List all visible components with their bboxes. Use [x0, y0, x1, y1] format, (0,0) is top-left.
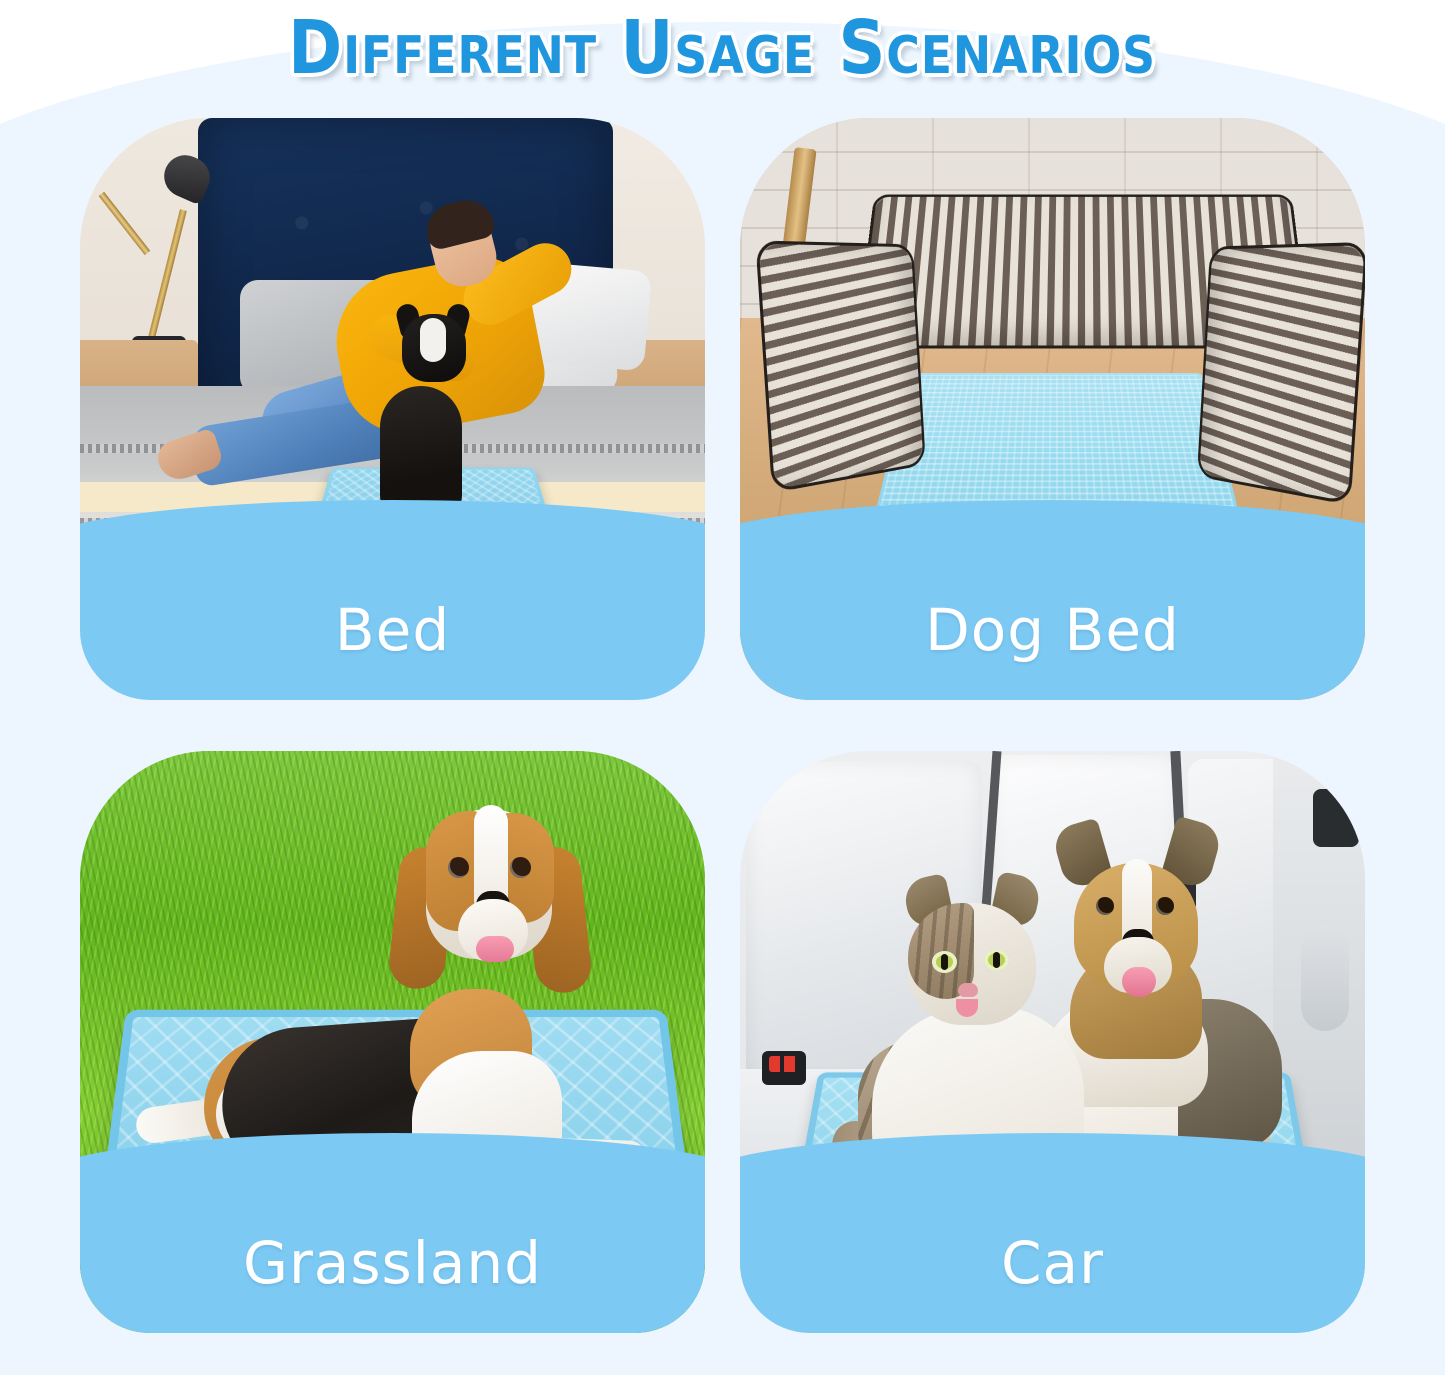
page-title-container: Different Usage Scenarios: [0, 0, 1445, 96]
card-label-grassland: Grassland: [80, 1207, 705, 1319]
pet-bed-right-bolster: [1199, 245, 1364, 501]
card-label-dog-bed: Dog Bed: [740, 574, 1365, 686]
sheltie-tongue: [1122, 967, 1156, 997]
beagle-eye-left: [448, 857, 469, 878]
boston-terrier-face-blaze: [420, 318, 446, 362]
car-door-trim: [1313, 789, 1359, 847]
scenario-card-dog-bed[interactable]: Dog Bed: [740, 118, 1365, 700]
cat-eye-left: [932, 951, 957, 973]
scenario-card-car[interactable]: Car: [740, 751, 1365, 1333]
page-title: Different Usage Scenarios: [289, 11, 1157, 85]
scenario-card-grid: Bed Dog Bed: [80, 118, 1365, 1333]
scenario-card-grassland[interactable]: Grassland: [80, 751, 705, 1333]
beagle-eye-right: [510, 857, 531, 878]
scenario-card-bed[interactable]: Bed: [80, 118, 705, 700]
infographic-page: Different Usage Scenarios: [0, 0, 1445, 1375]
cat-eye-right: [984, 949, 1009, 971]
card-label-car: Car: [740, 1207, 1365, 1319]
seat-belt-receptacle: [762, 1051, 806, 1085]
cat-nose: [958, 983, 978, 997]
car-door-armrest: [1301, 925, 1349, 1031]
sheltie-eye-left: [1096, 897, 1114, 915]
pet-bed-left-bolster: [759, 244, 924, 490]
sheltie-eye-right: [1156, 897, 1174, 915]
card-label-bed: Bed: [80, 574, 705, 686]
beagle-tongue: [476, 936, 514, 962]
